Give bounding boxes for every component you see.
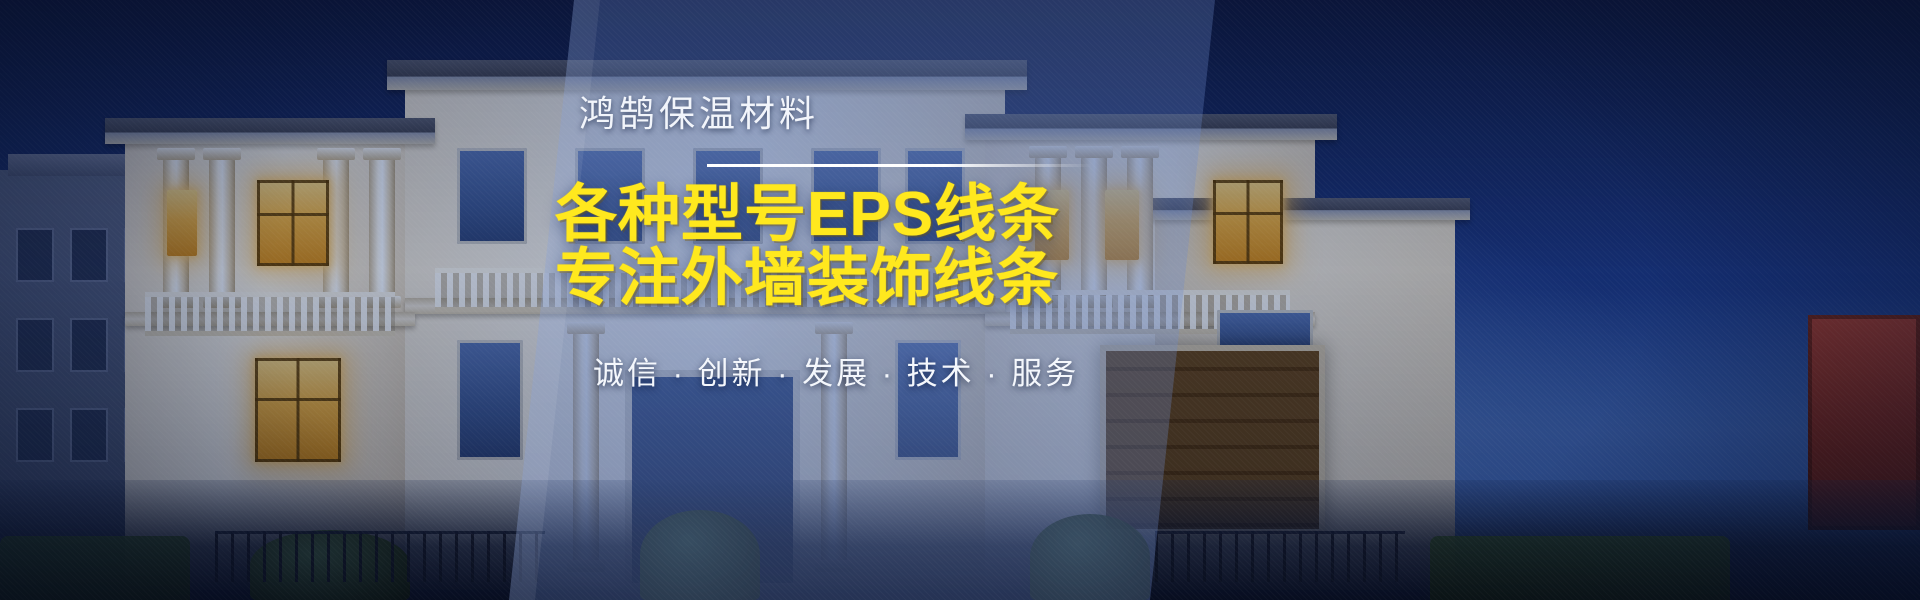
banner-copy: 鸿鹄保温材料 各种型号EPS线条 专注外墙装饰线条 诚信 · 创新 · 发展 ·… [555,96,1115,393]
brand-name: 鸿鹄保温材料 [555,96,1115,132]
headline-line-1: 各种型号EPS线条 [555,180,1060,249]
headline-line-2: 专注外墙装饰线条 [555,247,1115,311]
tagline: 诚信 · 创新 · 发展 · 技术 · 服务 [555,348,1115,393]
divider-rule [707,164,1092,167]
promo-banner: 鸿鹄保温材料 各种型号EPS线条 专注外墙装饰线条 诚信 · 创新 · 发展 ·… [0,0,1920,600]
headline: 各种型号EPS线条 专注外墙装饰线条 [555,183,1115,312]
